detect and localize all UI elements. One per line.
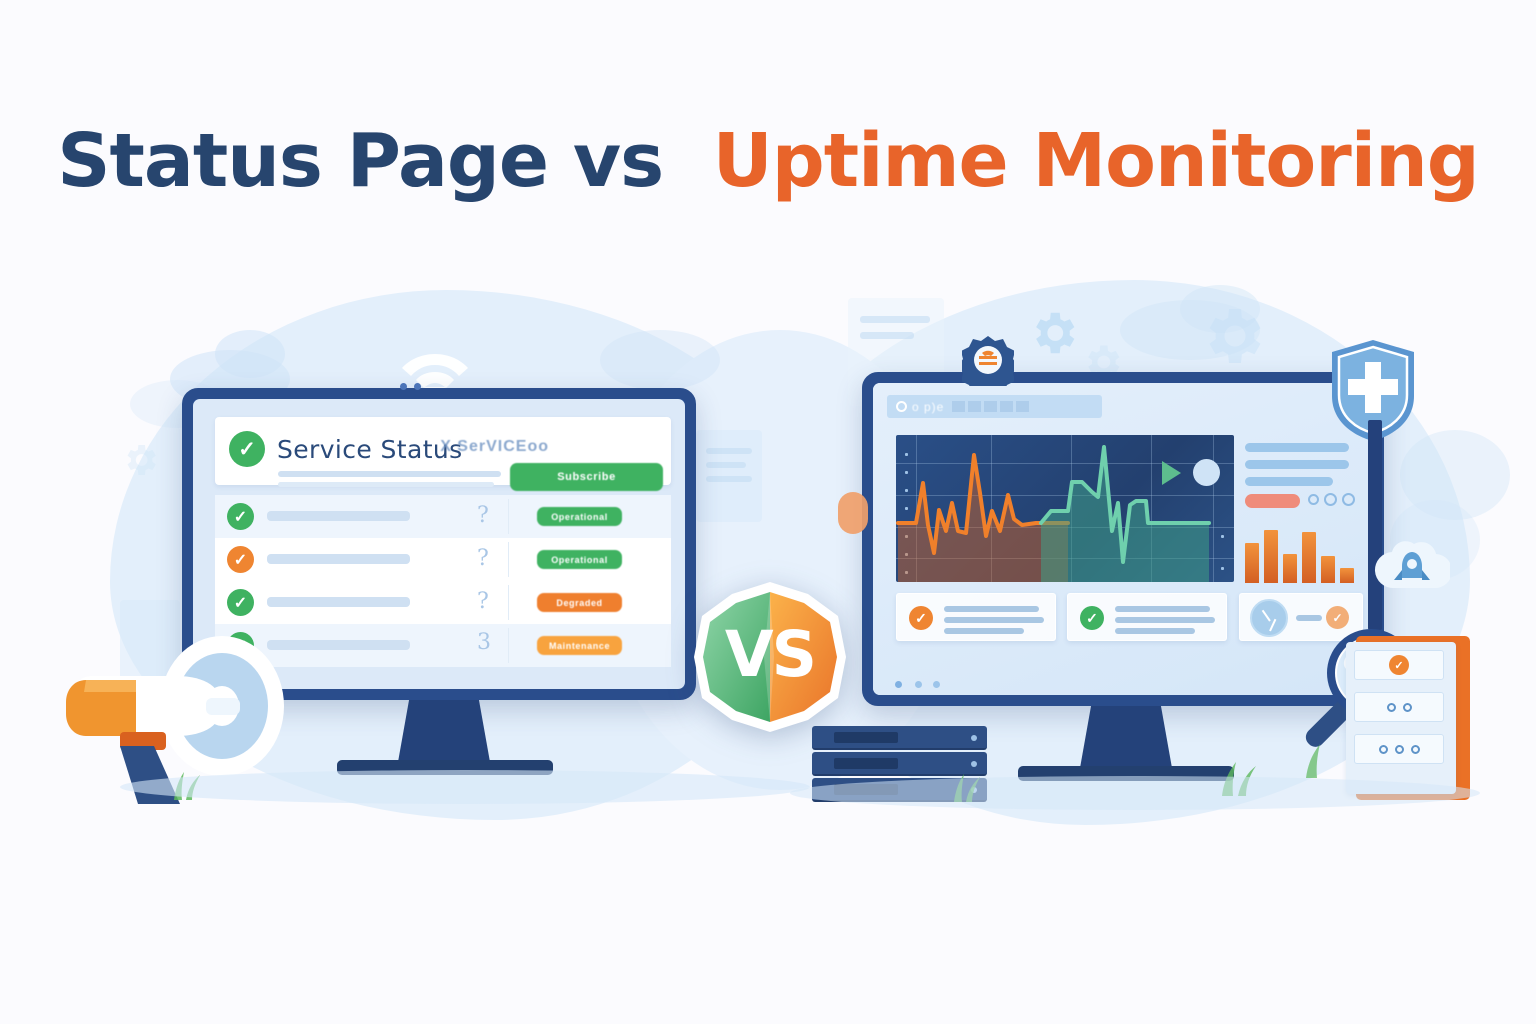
versus-badge: VS <box>688 578 852 736</box>
skeleton-line <box>1115 628 1195 634</box>
skeleton-line <box>1245 460 1349 469</box>
ring-icon <box>1324 493 1337 506</box>
camera-dot <box>400 383 407 390</box>
screen-title: Service Status <box>277 435 463 464</box>
skeleton-line <box>1115 606 1210 612</box>
skeleton-line <box>278 482 494 487</box>
green-check-icon: ✓ <box>227 589 254 616</box>
indicator-dot <box>915 681 922 688</box>
brand-ghost-text: X SerVICEoo <box>440 438 549 456</box>
row-marker: ? <box>477 589 489 614</box>
orange-check-icon: ✓ <box>1389 655 1409 675</box>
row-divider <box>508 499 509 534</box>
chart-series <box>896 435 1234 582</box>
ring-icon <box>1387 703 1396 712</box>
server-unit <box>812 726 987 750</box>
monitor-neck <box>398 700 490 762</box>
bar-chart <box>1245 523 1357 583</box>
versus-label: VS <box>688 578 852 736</box>
ground-shade <box>790 776 1480 810</box>
skeleton-line <box>278 471 501 477</box>
gear-icon <box>962 334 1014 386</box>
url-text: o p)e <box>912 400 944 414</box>
page-title-right: Uptime Monitoring <box>713 118 1479 204</box>
alert-pill <box>1245 494 1300 508</box>
row-divider <box>508 542 509 577</box>
bar <box>1245 543 1259 583</box>
gear-icon <box>1026 306 1080 360</box>
url-blocks <box>952 401 1029 412</box>
gear-icon <box>1196 300 1268 372</box>
ring-icon <box>1403 703 1412 712</box>
rocket-cloud-icon <box>1374 534 1450 604</box>
bar <box>1283 554 1297 583</box>
decorative-line <box>706 476 752 482</box>
status-badge: Degraded <box>537 593 622 612</box>
green-check-icon: ✓ <box>229 431 265 467</box>
ring-icon <box>1379 745 1388 754</box>
cloud-shape <box>215 330 285 378</box>
play-triangle-icon[interactable] <box>1162 461 1181 485</box>
skeleton-line <box>267 554 410 564</box>
monitor-neck <box>1080 706 1172 768</box>
rack-slot <box>1354 734 1444 764</box>
decorative-line <box>706 448 752 454</box>
rack-slot: ✓ <box>1354 650 1444 680</box>
status-badge: Maintenance <box>537 636 622 655</box>
skeleton-line <box>944 606 1039 612</box>
skeleton-line <box>267 511 410 521</box>
gauge-icon <box>1250 599 1288 637</box>
gauge-needle <box>1262 610 1271 622</box>
indicator-dot <box>933 681 940 688</box>
camera-dot <box>414 383 421 390</box>
green-check-icon: ✓ <box>227 503 254 530</box>
indicator-dot <box>895 681 902 688</box>
alert-indicator <box>838 492 868 534</box>
table-row[interactable]: ✓ ? Operational <box>215 495 671 538</box>
ring-icon <box>1395 745 1404 754</box>
green-check-icon: ✓ <box>1080 606 1104 630</box>
illustration-canvas: Status Page vs Uptime Monitoring <box>0 0 1536 1024</box>
orange-check-icon: ✓ <box>227 546 254 573</box>
decorative-line <box>860 316 930 323</box>
decorative-line <box>860 332 914 339</box>
table-row[interactable]: ✓ ? Degraded <box>215 581 671 624</box>
url-bar[interactable]: o p)e <box>887 395 1102 418</box>
skeleton-line <box>944 628 1024 634</box>
row-divider <box>508 628 509 663</box>
table-row[interactable]: ✓ ? Operational <box>215 538 671 581</box>
grass-decoration <box>1300 742 1350 778</box>
decorative-line <box>706 462 746 468</box>
gear-icon <box>120 440 160 480</box>
bar <box>1264 530 1278 583</box>
cloud-shape <box>600 330 720 390</box>
server-rack-panel: ✓ <box>1356 636 1470 800</box>
service-status-header: ✓ Service Status X SerVICEoo Subscribe <box>215 417 671 485</box>
side-info-panel <box>1245 443 1360 513</box>
bar <box>1340 568 1354 583</box>
status-card-ok[interactable]: ✓ <box>1067 593 1227 641</box>
orange-check-icon: ✓ <box>909 606 933 630</box>
page-title-left: Status Page vs <box>57 118 663 204</box>
circle-icon <box>896 401 907 412</box>
ring-icon <box>1308 494 1319 505</box>
ring-icon <box>1342 493 1355 506</box>
status-circle-icon <box>1193 459 1220 486</box>
bar <box>1321 556 1335 583</box>
status-card-warning[interactable]: ✓ <box>896 593 1056 641</box>
uptime-line-chart <box>896 435 1234 582</box>
row-marker: 3 <box>477 630 491 655</box>
row-marker: ? <box>477 503 489 528</box>
ring-icon <box>1411 745 1420 754</box>
skeleton-line <box>944 617 1044 623</box>
page-title: Status Page vs Uptime Monitoring <box>0 118 1536 204</box>
skeleton-line <box>1115 617 1215 623</box>
rack-slot <box>1354 692 1444 722</box>
ground-shade <box>120 770 810 804</box>
subscribe-button[interactable]: Subscribe <box>510 463 663 491</box>
row-divider <box>508 585 509 620</box>
rack-inner: ✓ <box>1346 642 1456 794</box>
row-marker: ? <box>477 546 489 571</box>
skeleton-line <box>267 597 410 607</box>
bar <box>1302 532 1316 583</box>
status-badge: Operational <box>537 507 622 526</box>
skeleton-line <box>1245 477 1333 486</box>
skeleton-line <box>1245 443 1349 452</box>
status-badge: Operational <box>537 550 622 569</box>
